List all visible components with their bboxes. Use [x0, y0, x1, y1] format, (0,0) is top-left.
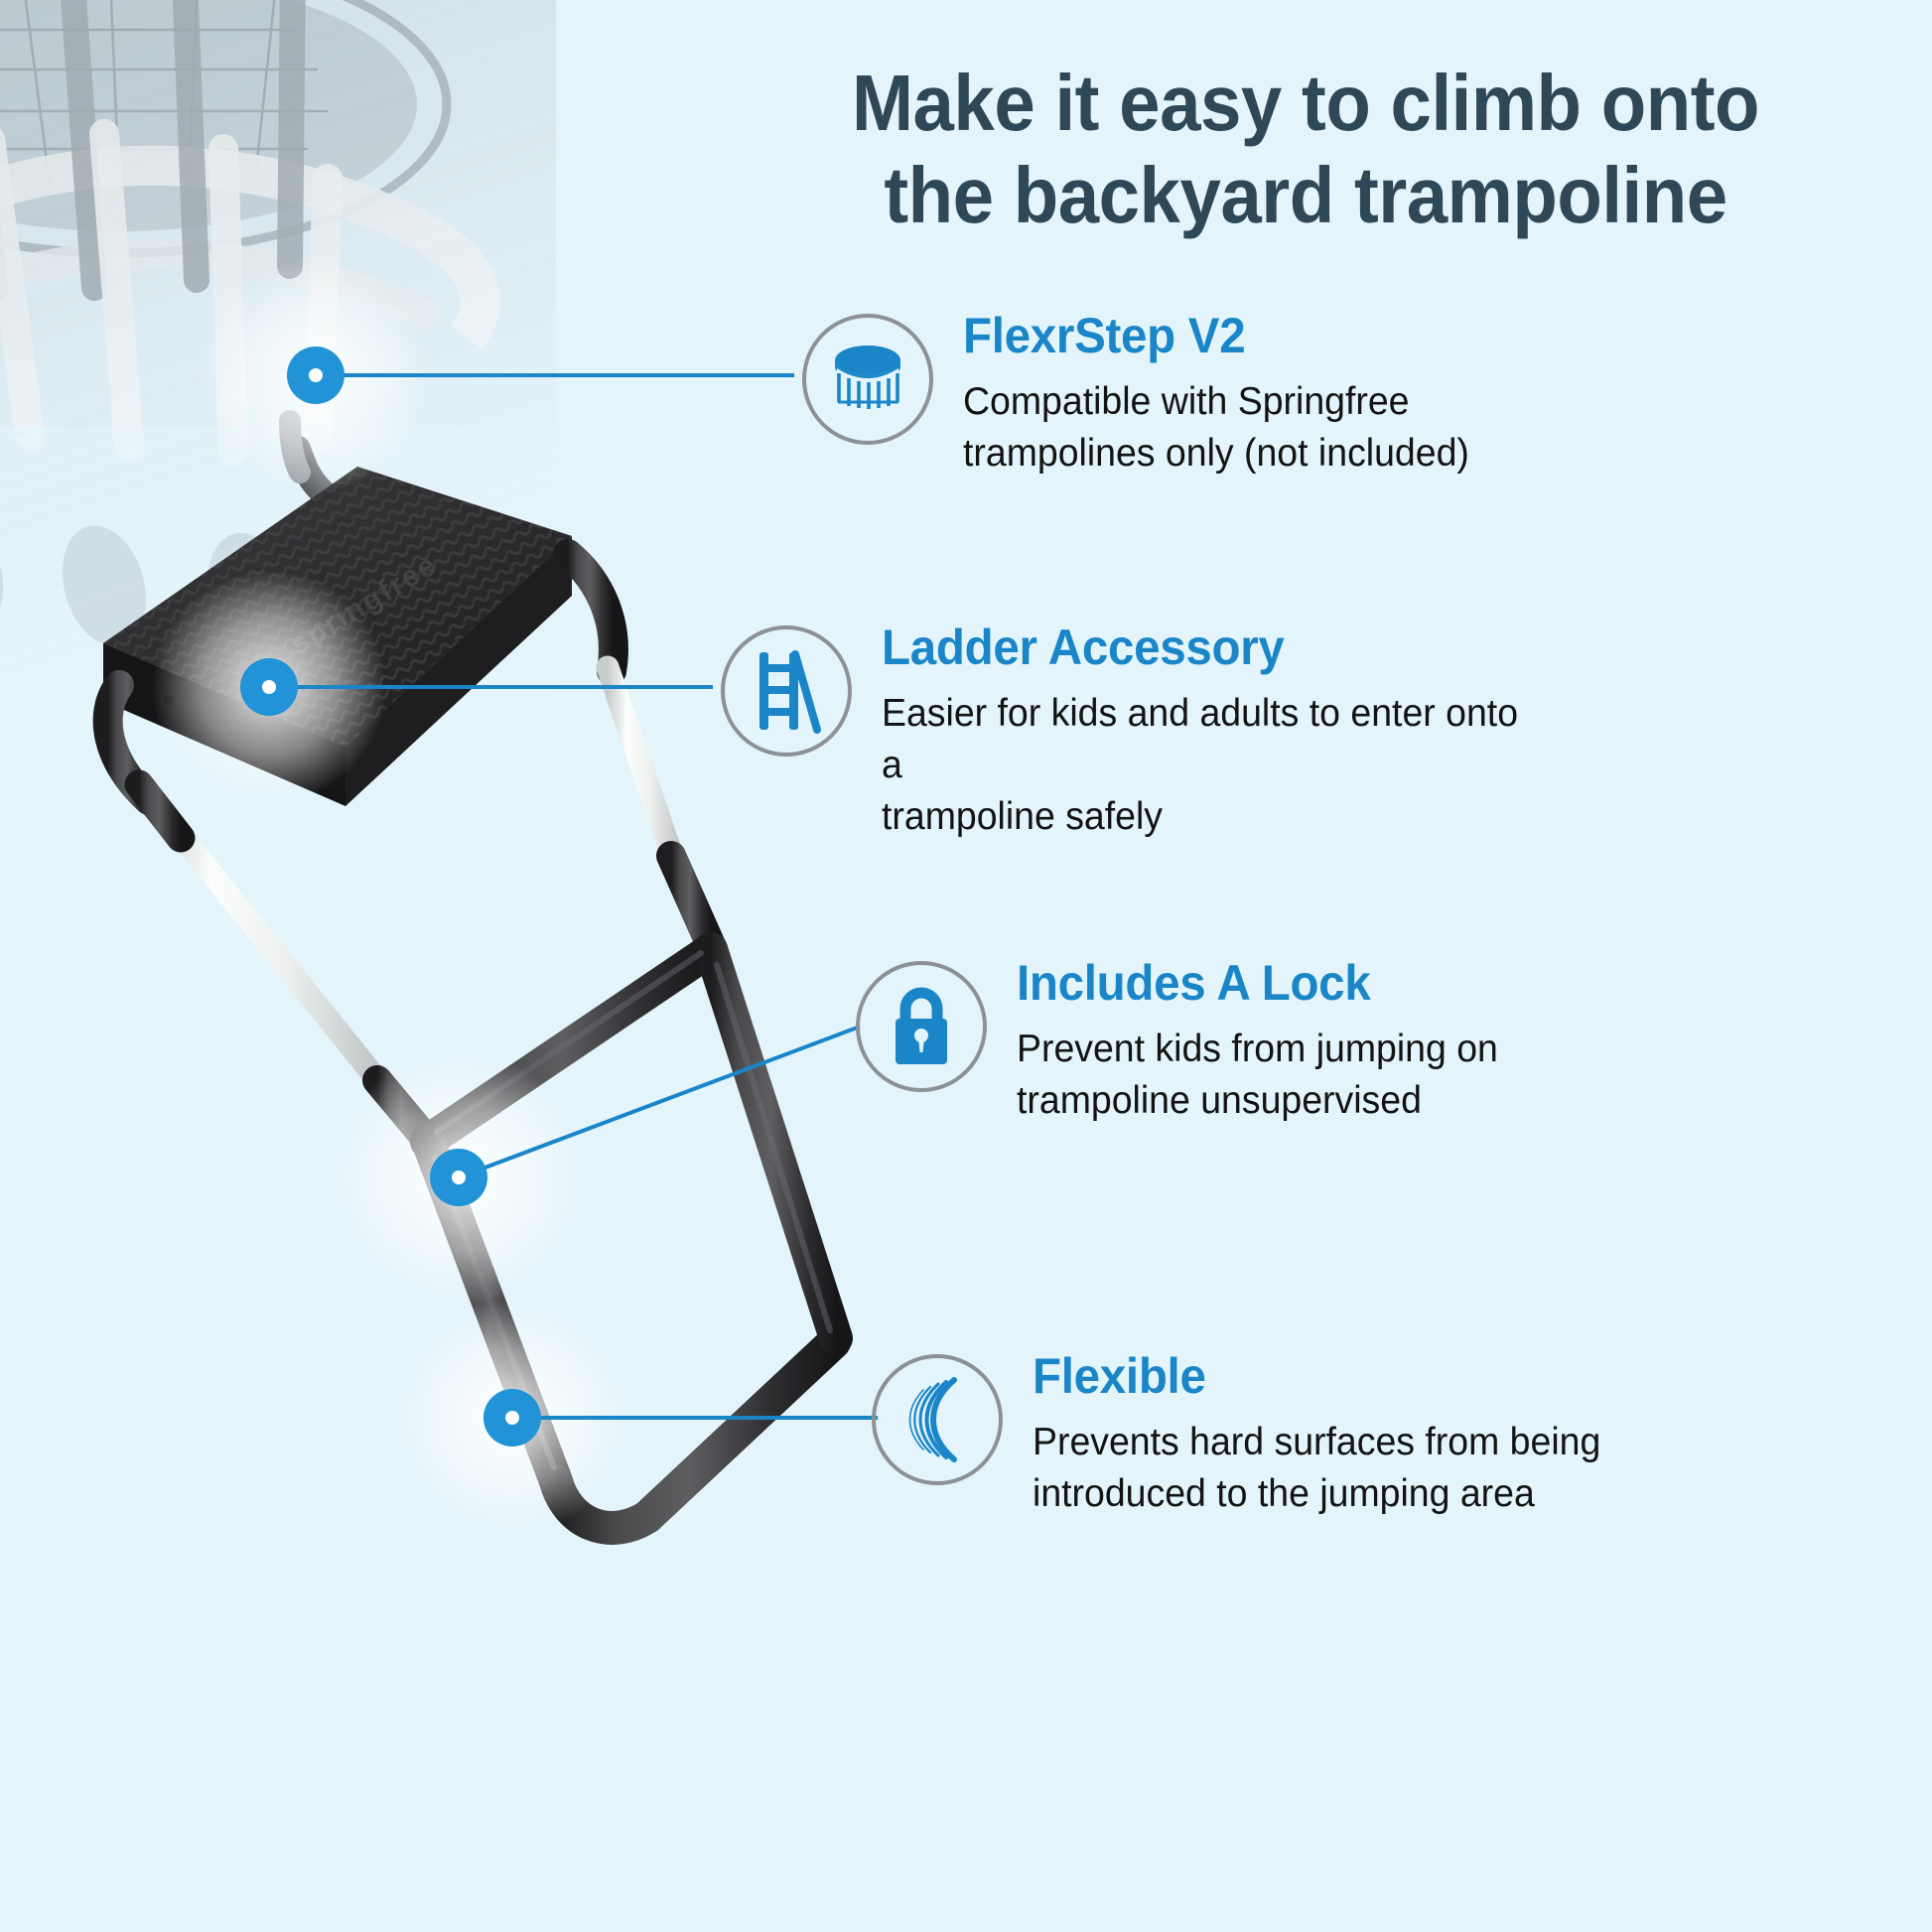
flex-lines-icon-glyph: [898, 1374, 976, 1465]
feature-desc-line: Compatible with Springfree: [963, 376, 1469, 428]
feature-title-flexible: Flexible: [1033, 1350, 1594, 1403]
product-illustration: springfree: [0, 0, 953, 1932]
feature-title-flexrstep-v2: FlexrStep V2: [963, 310, 1464, 362]
feature-flexible: Flexible Prevents hard surfaces from bei…: [872, 1348, 1624, 1520]
callout-dot-hit-flexrstep-v2[interactable]: [287, 346, 345, 404]
ladder-icon-glyph: [750, 648, 823, 734]
feature-desc-line: Prevents hard surfaces from being: [1033, 1417, 1600, 1468]
feature-desc-flexible: Prevents hard surfaces from being introd…: [1033, 1417, 1600, 1521]
trampoline-icon: [802, 314, 933, 445]
headline-line-2: the backyard trampoline: [738, 150, 1873, 242]
feature-desc-line: trampolines only (not included): [963, 428, 1469, 480]
lock-icon-glyph: [886, 983, 957, 1070]
feature-desc-line: Easier for kids and adults to enter onto…: [882, 688, 1549, 792]
feature-desc-includes-a-lock: Prevent kids from jumping on trampoline …: [1017, 1024, 1498, 1128]
callout-dot-hit-ladder-accessory[interactable]: [240, 658, 298, 716]
headline-line-1: Make it easy to climb onto: [738, 58, 1873, 150]
feature-includes-a-lock: Includes A Lock Prevent kids from jumpin…: [856, 955, 1518, 1127]
trampoline-icon-glyph: [825, 341, 910, 418]
ladder-icon: [721, 625, 852, 757]
feature-title-ladder-accessory: Ladder Accessory: [882, 621, 1542, 674]
callout-dot-hit-flexible[interactable]: [483, 1389, 541, 1447]
feature-text-flexible: Flexible Prevents hard surfaces from bei…: [1033, 1348, 1624, 1520]
feature-flexrstep-v2: FlexrStep V2 Compatible with Springfree …: [802, 308, 1490, 480]
feature-title-includes-a-lock: Includes A Lock: [1017, 957, 1493, 1010]
feature-desc-flexrstep-v2: Compatible with Springfree trampolines o…: [963, 376, 1469, 481]
feature-desc-line: introduced to the jumping area: [1033, 1468, 1600, 1520]
feature-desc-line: trampoline unsupervised: [1017, 1075, 1498, 1127]
flex-lines-icon: [872, 1354, 1003, 1485]
feature-desc-line: trampoline safely: [882, 791, 1549, 843]
feature-text-flexrstep-v2: FlexrStep V2 Compatible with Springfree …: [963, 308, 1490, 480]
feature-ladder-accessory: Ladder Accessory Easier for kids and adu…: [721, 620, 1577, 843]
callout-dot-hit-includes-a-lock[interactable]: [430, 1149, 487, 1206]
page-title: Make it easy to climb onto the backyard …: [738, 58, 1873, 242]
lock-icon: [856, 961, 987, 1092]
feature-desc-line: Prevent kids from jumping on: [1017, 1024, 1498, 1075]
infographic-page: springfree: [0, 0, 1932, 1932]
product-photo: springfree: [0, 0, 953, 1932]
feature-desc-ladder-accessory: Easier for kids and adults to enter onto…: [882, 688, 1549, 844]
feature-text-ladder-accessory: Ladder Accessory Easier for kids and adu…: [882, 620, 1577, 843]
feature-text-includes-a-lock: Includes A Lock Prevent kids from jumpin…: [1017, 955, 1518, 1127]
